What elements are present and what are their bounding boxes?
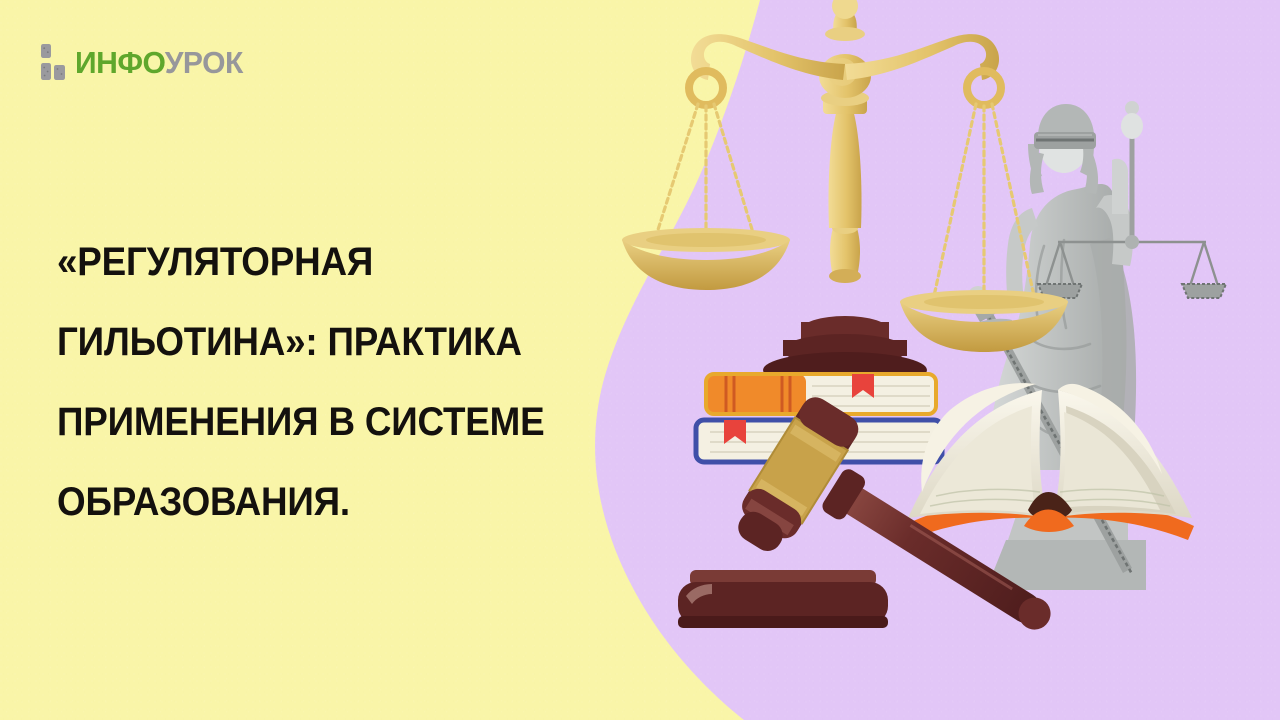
title-line-2: ГИЛЬОТИНА»: ПРАКТИКА (57, 302, 535, 382)
blindfold-icon (1034, 132, 1096, 149)
logo-text-urok: УРОК (165, 45, 243, 80)
balance-scales (622, 0, 1068, 388)
infourok-wordmark: ИНФОУРОК (75, 47, 243, 78)
title-line-3: ПРИМЕНЕНИЯ В СИСТЕМЕ (57, 382, 535, 462)
title-line-1: «РЕГУЛЯТОРНАЯ (57, 222, 535, 302)
infourok-logo[interactable]: ИНФОУРОК (40, 40, 248, 84)
gavel-sound-block (678, 570, 888, 628)
infourok-blocks-icon (40, 44, 66, 80)
scale-pan-left (622, 228, 790, 290)
logo-text-infо: ИНФО (75, 45, 165, 80)
law-and-education-illustration (620, 40, 1260, 680)
title-line-4: ОБРАЗОВАНИЯ. (57, 462, 535, 542)
slide-canvas: ИНФОУРОК «РЕГУЛЯТОРНАЯ ГИЛЬОТИНА»: ПРАКТ… (0, 0, 1280, 720)
page-title: «РЕГУЛЯТОРНАЯ ГИЛЬОТИНА»: ПРАКТИКА ПРИМЕ… (57, 222, 577, 542)
